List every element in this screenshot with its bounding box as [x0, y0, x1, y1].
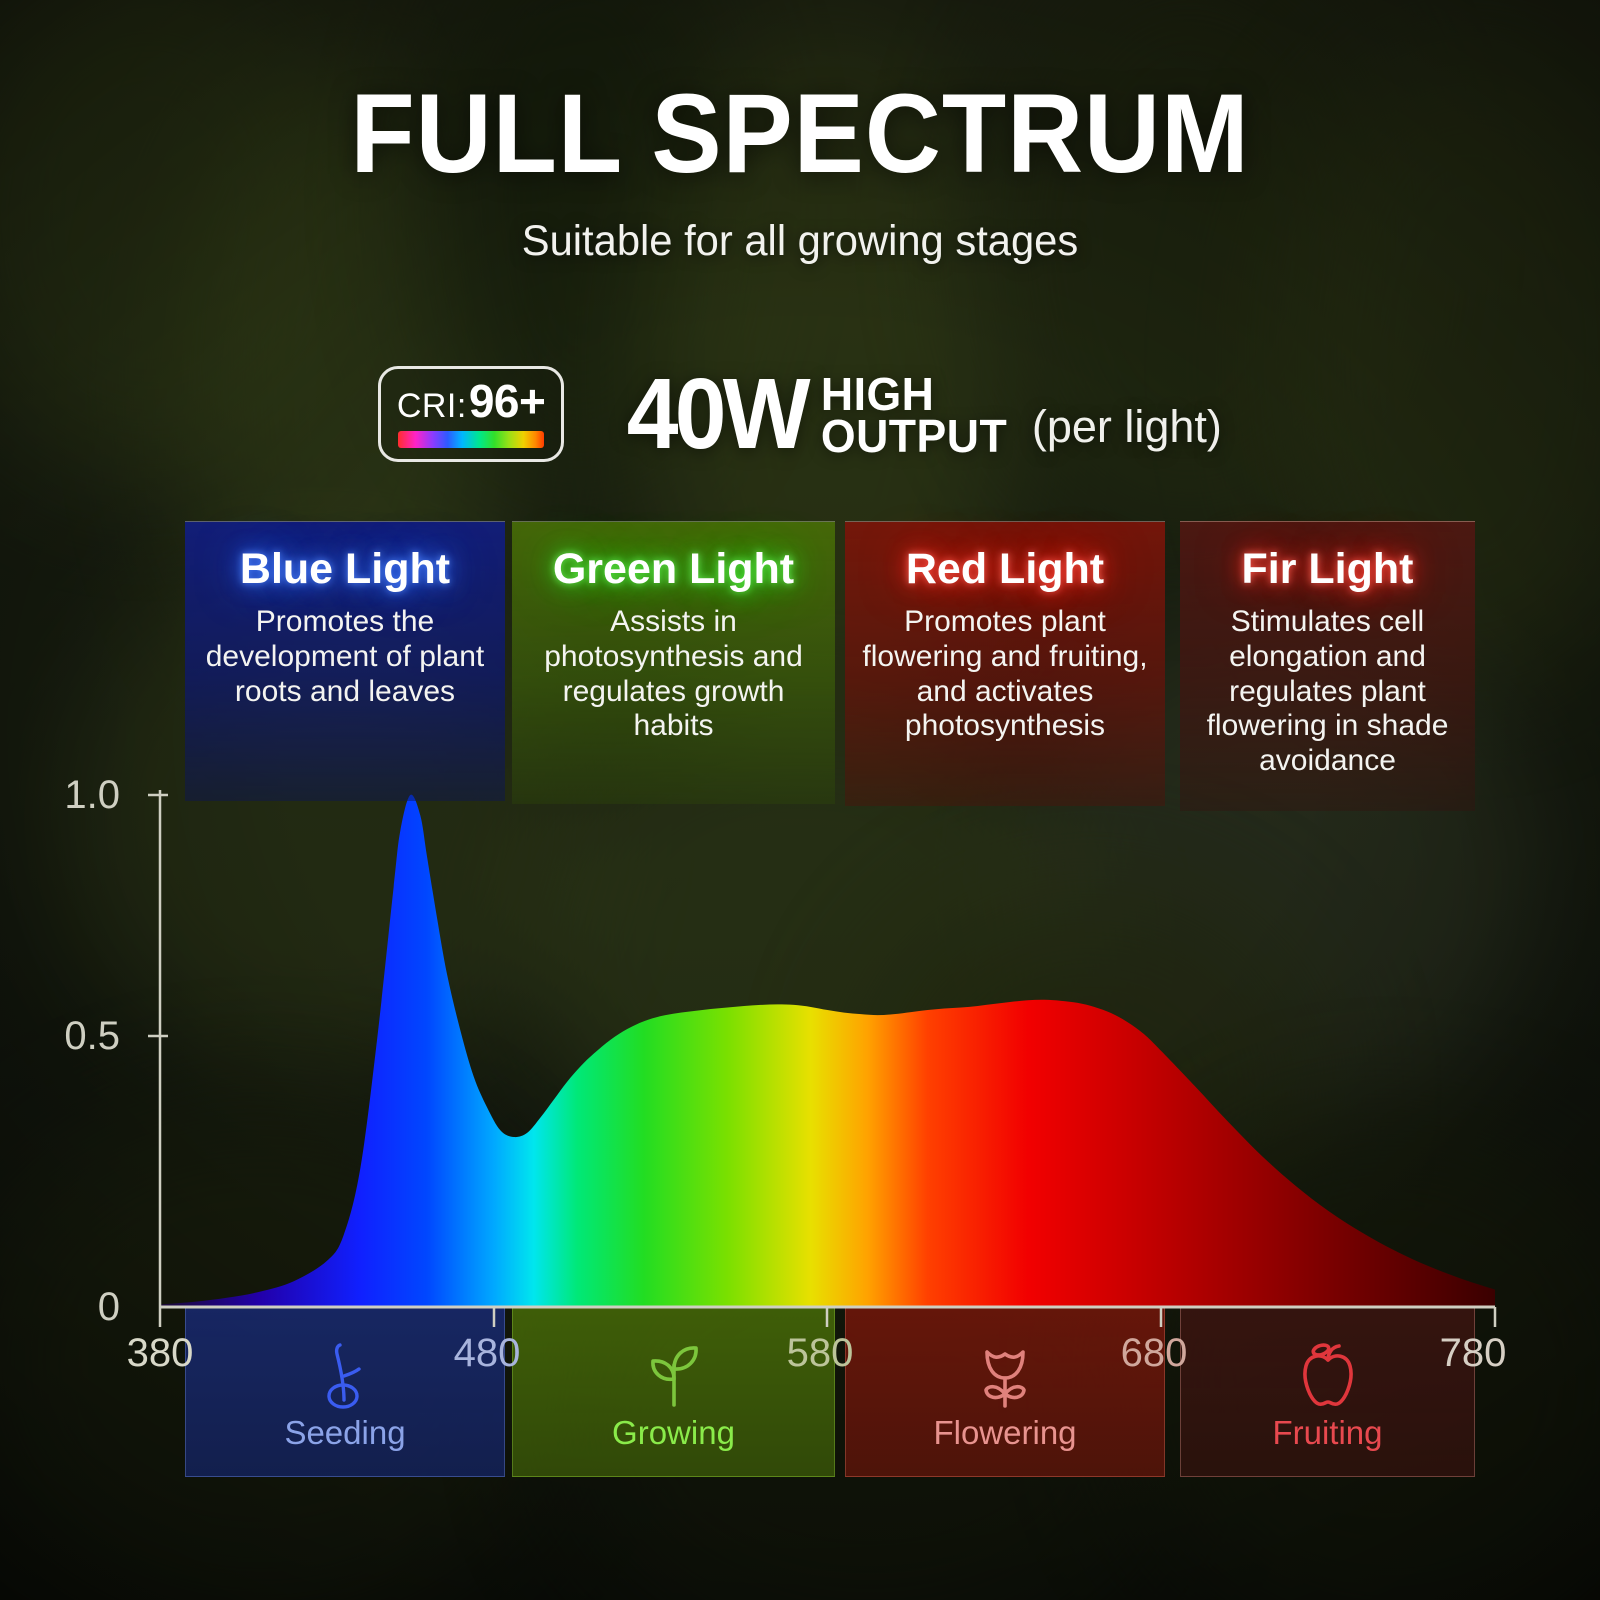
cri-label: CRI:: [397, 389, 467, 423]
wattage-word-output: OUTPUT: [821, 415, 1007, 457]
stage-label: Fruiting: [1272, 1416, 1382, 1449]
stage-fruiting[interactable]: Fruiting: [1180, 1338, 1475, 1449]
wattage-note: (per light): [1032, 401, 1222, 457]
y-tick-label-0-5: 0.5: [0, 1016, 120, 1056]
card-description: Stimulates cell elongation and regulates…: [1194, 605, 1461, 779]
stage-label: Growing: [612, 1416, 735, 1449]
seedling-icon: [641, 1338, 707, 1410]
spectrum-cards: Blue Light Promotes the development of p…: [0, 521, 1600, 811]
card-description: Promotes plant flowering and fruiting, a…: [859, 605, 1151, 744]
card-description: Assists in photosynthesis and regulates …: [526, 605, 821, 744]
cri-value: 96+: [469, 378, 546, 424]
card-title: Green Light: [526, 548, 821, 591]
rainbow-gradient-bar-icon: [398, 431, 544, 448]
stage-label: Seeding: [284, 1416, 405, 1449]
growth-stages: Seeding Growing Flowering: [0, 1338, 1600, 1488]
wattage-words: HIGH OUTPUT: [818, 371, 1010, 458]
wattage-value: 40W: [627, 371, 807, 457]
card-description: Promotes the development of plant roots …: [199, 605, 491, 709]
header: FULL SPECTRUM Suitable for all growing s…: [0, 78, 1600, 263]
card-title: Blue Light: [199, 548, 491, 591]
sprouting-seed-icon: [314, 1338, 376, 1410]
page-title: FULL SPECTRUM: [48, 78, 1552, 190]
wattage-group: 40W HIGH OUTPUT (per light): [620, 371, 1222, 458]
apple-icon: [1297, 1338, 1359, 1410]
card-fir-light[interactable]: Fir Light Stimulates cell elongation and…: [1180, 521, 1475, 811]
stage-seeding[interactable]: Seeding: [185, 1338, 505, 1449]
tulip-icon: [973, 1338, 1037, 1410]
spec-row: CRI: 96+ 40W HIGH OUTPUT (per light): [0, 366, 1600, 462]
wattage-word-high: HIGH: [821, 373, 1007, 415]
page-subtitle: Suitable for all growing stages: [24, 220, 1576, 263]
card-green-light[interactable]: Green Light Assists in photosynthesis an…: [512, 521, 835, 804]
card-title: Red Light: [859, 548, 1151, 591]
y-tick-label-0: 0: [0, 1287, 120, 1327]
card-red-light[interactable]: Red Light Promotes plant flowering and f…: [845, 521, 1165, 806]
cri-badge: CRI: 96+: [378, 366, 564, 462]
stage-label: Flowering: [933, 1416, 1076, 1449]
stage-growing[interactable]: Growing: [512, 1338, 835, 1449]
card-blue-light[interactable]: Blue Light Promotes the development of p…: [185, 521, 505, 801]
cri-text: CRI: 96+: [397, 378, 546, 424]
card-title: Fir Light: [1194, 548, 1461, 591]
stage-flowering[interactable]: Flowering: [845, 1338, 1165, 1449]
